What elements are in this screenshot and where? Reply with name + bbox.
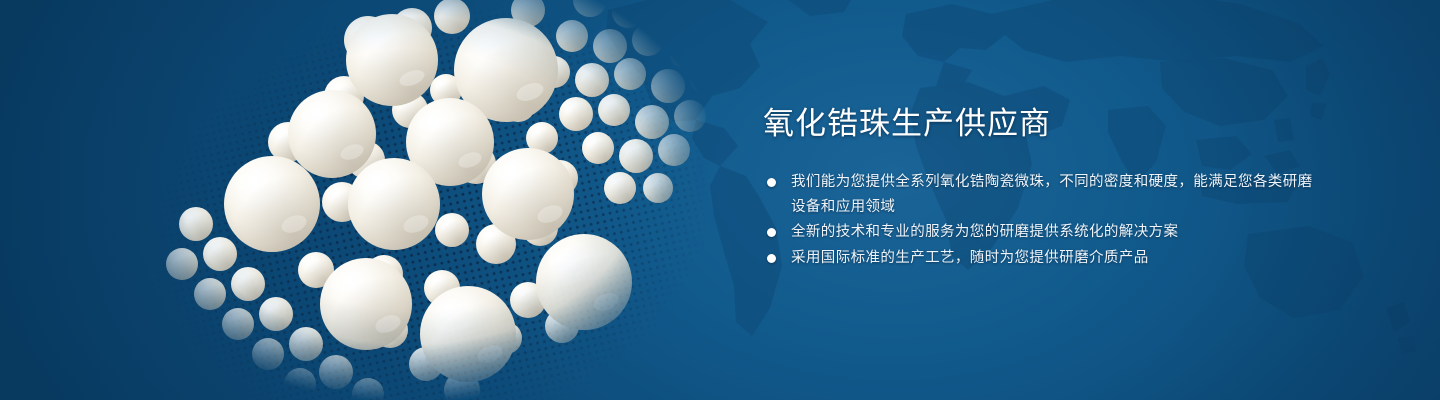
bullet-dot-icon xyxy=(767,254,776,263)
bullet-text: 采用国际标准的生产工艺，随时为您提供研磨介质产品 xyxy=(791,250,1149,266)
bullet-text: 全新的技术和专业的服务为您的研磨提供系统化的解决方案 xyxy=(791,224,1178,240)
feature-bullet-list: 我们能为您提供全系列氧化锆陶瓷微珠，不同的密度和硬度，能满足您各类研磨设备和应用… xyxy=(763,170,1323,270)
banner-text-content: 氧化锆珠生产供应商 我们能为您提供全系列氧化锆陶瓷微珠，不同的密度和硬度，能满足… xyxy=(763,104,1323,271)
list-item: 全新的技术和专业的服务为您的研磨提供系统化的解决方案 xyxy=(763,220,1323,245)
page-title: 氧化锆珠生产供应商 xyxy=(763,104,1323,144)
bullet-dot-icon xyxy=(767,178,776,187)
bullet-text: 我们能为您提供全系列氧化锆陶瓷微珠，不同的密度和硬度，能满足您各类研磨设备和应用… xyxy=(791,174,1313,215)
list-item: 我们能为您提供全系列氧化锆陶瓷微珠，不同的密度和硬度，能满足您各类研磨设备和应用… xyxy=(763,170,1323,219)
bullet-dot-icon xyxy=(767,228,776,237)
list-item: 采用国际标准的生产工艺，随时为您提供研磨介质产品 xyxy=(763,246,1323,271)
hero-banner: 氧化锆珠生产供应商 我们能为您提供全系列氧化锆陶瓷微珠，不同的密度和硬度，能满足… xyxy=(0,0,1440,400)
